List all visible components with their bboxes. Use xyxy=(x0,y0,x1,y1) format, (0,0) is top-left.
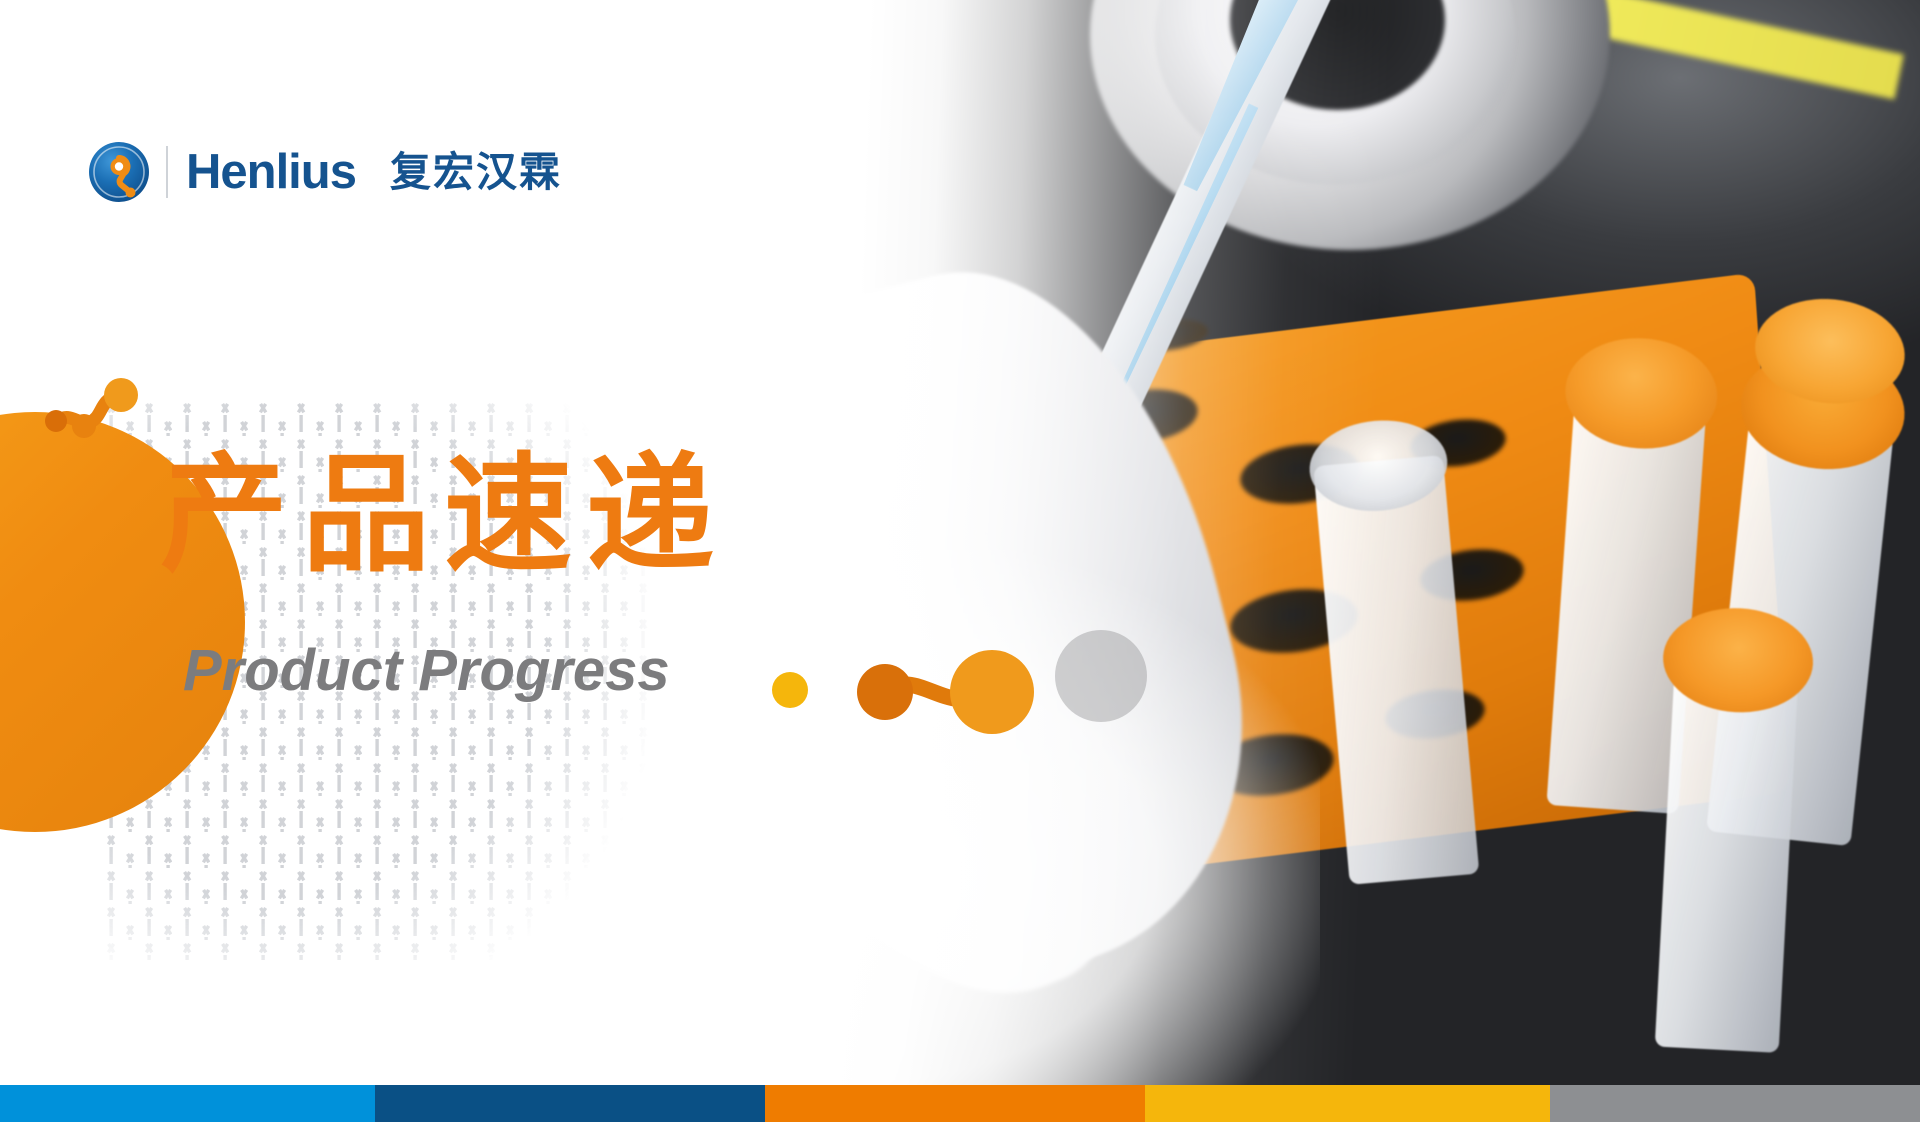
segment-yellow xyxy=(1145,1085,1550,1122)
logo-divider xyxy=(166,146,168,198)
laboratory-pipetting-photo xyxy=(760,0,1920,1085)
logo-en-name: Henlius xyxy=(186,148,356,197)
cover-slide: Henlius 复宏汉霖 产品速递 Product Progress xyxy=(0,0,1920,1122)
henlius-logo-mark-icon xyxy=(88,141,150,203)
segment-gray xyxy=(1550,1085,1920,1122)
gray-bubble xyxy=(1055,630,1147,722)
page-title-en: Product Progress xyxy=(183,642,670,700)
molecule-dumbbell-small xyxy=(38,378,158,456)
brand-logo[interactable]: Henlius 复宏汉霖 xyxy=(88,140,562,204)
molecule-dumbbell-large xyxy=(855,648,1045,736)
bottom-color-bar xyxy=(0,1085,1920,1122)
segment-orange xyxy=(765,1085,1145,1122)
segment-light-blue xyxy=(0,1085,375,1122)
yellow-dot xyxy=(772,672,808,708)
logo-cn-name: 复宏汉霖 xyxy=(390,152,562,193)
segment-dark-blue xyxy=(375,1085,765,1122)
photo-white-fade xyxy=(760,0,1920,1085)
page-title-cn: 产品速递 xyxy=(160,452,728,580)
